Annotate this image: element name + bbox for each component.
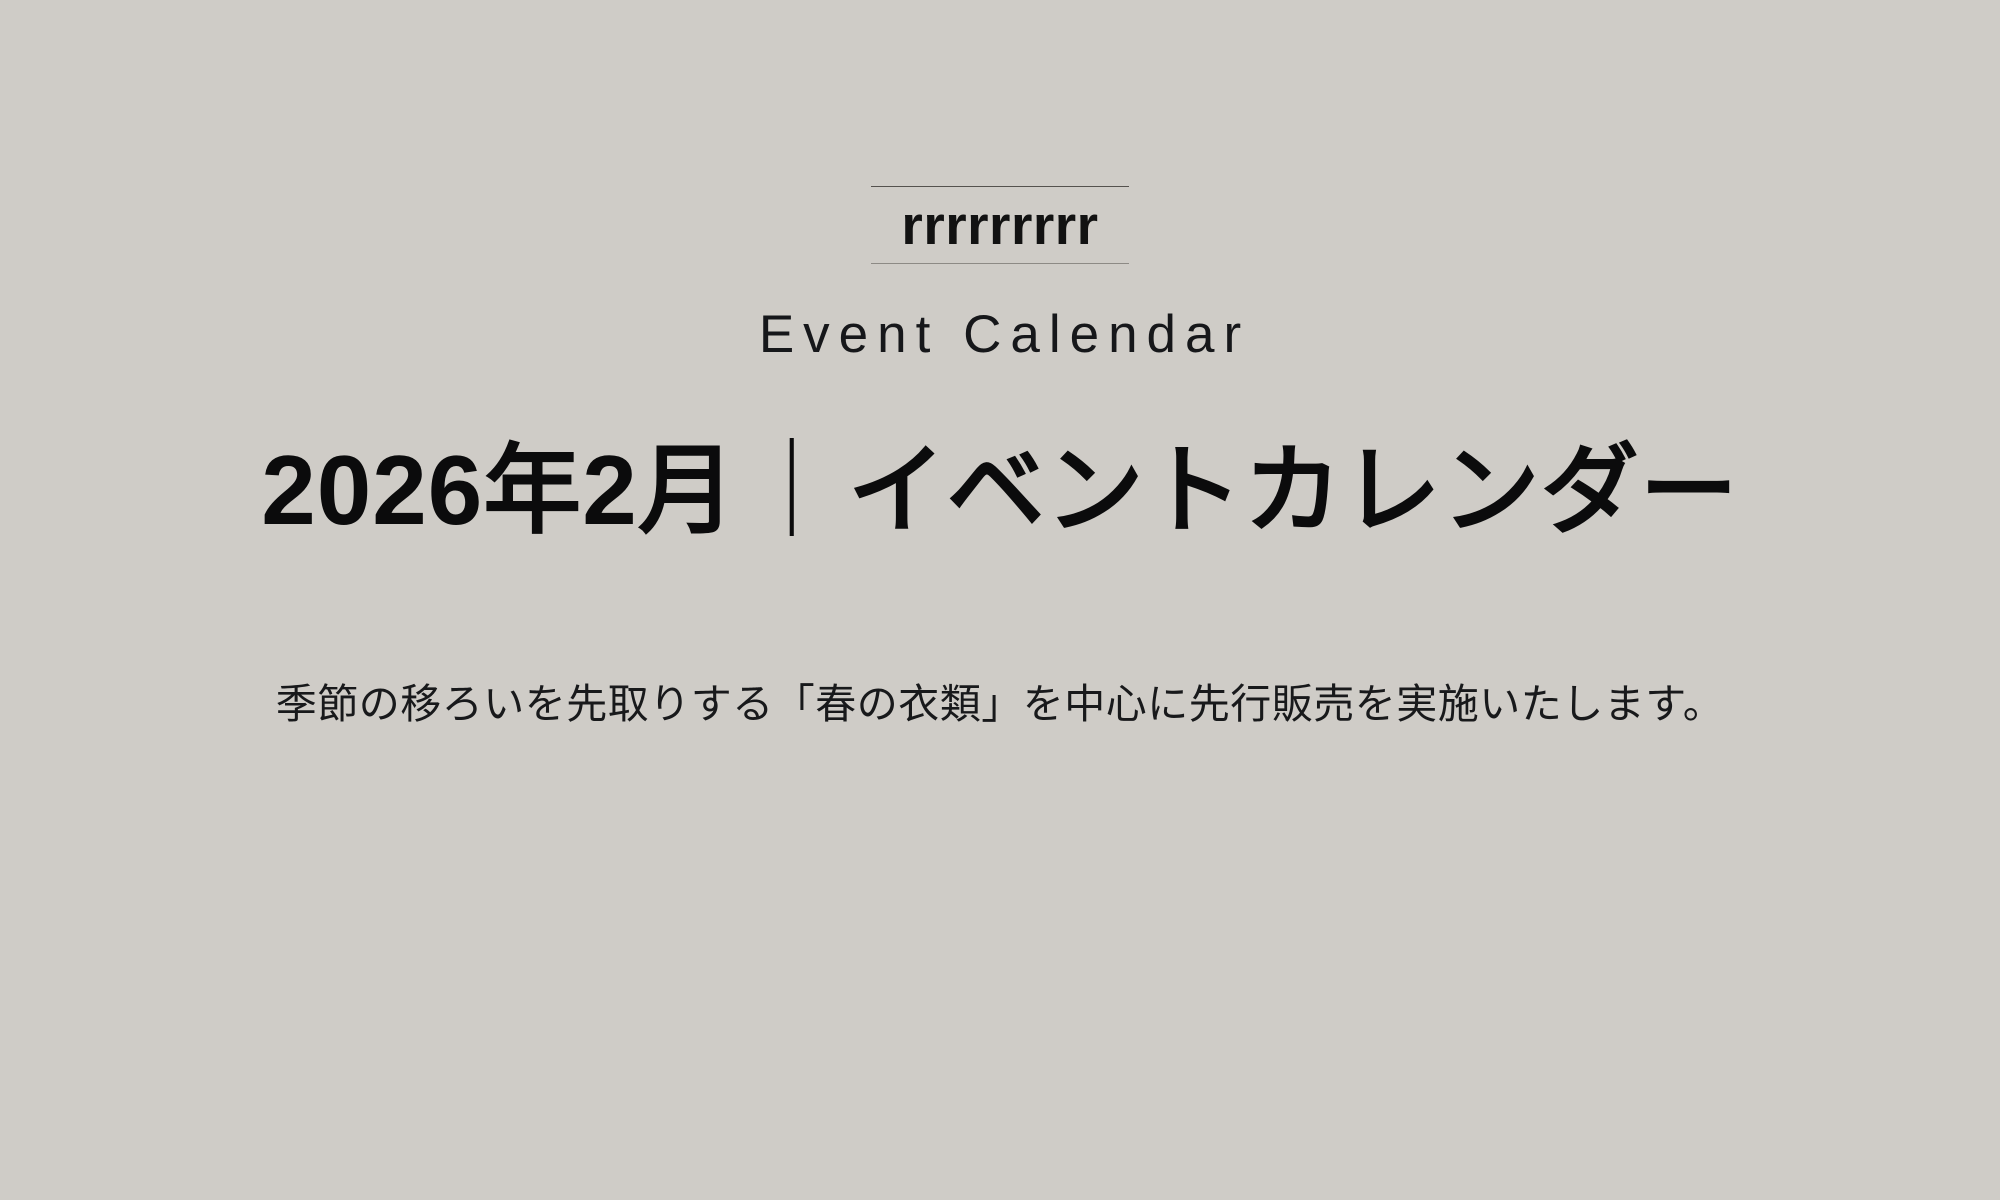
eyebrow: rrrrrrrrr bbox=[871, 186, 1129, 264]
title-month: 2026年2月 bbox=[261, 424, 737, 556]
eyebrow-tag-label: rrrrrrrrr bbox=[901, 187, 1098, 263]
title-separator: ｜ bbox=[737, 424, 848, 556]
lead-paragraph: 季節の移ろいを先取りする「春の衣類」を中心に先行販売を実施いたします。 bbox=[276, 674, 1724, 734]
page-title: 2026年2月 ｜ イベントカレンダー bbox=[261, 424, 1739, 556]
title-name: イベントカレンダー bbox=[848, 424, 1739, 556]
kicker-label: Event Calendar bbox=[750, 304, 1250, 366]
hero-section: rrrrrrrrr Event Calendar 2026年2月 ｜ イベントカ… bbox=[0, 0, 2000, 1200]
eyebrow-bottom-rule bbox=[871, 263, 1129, 264]
